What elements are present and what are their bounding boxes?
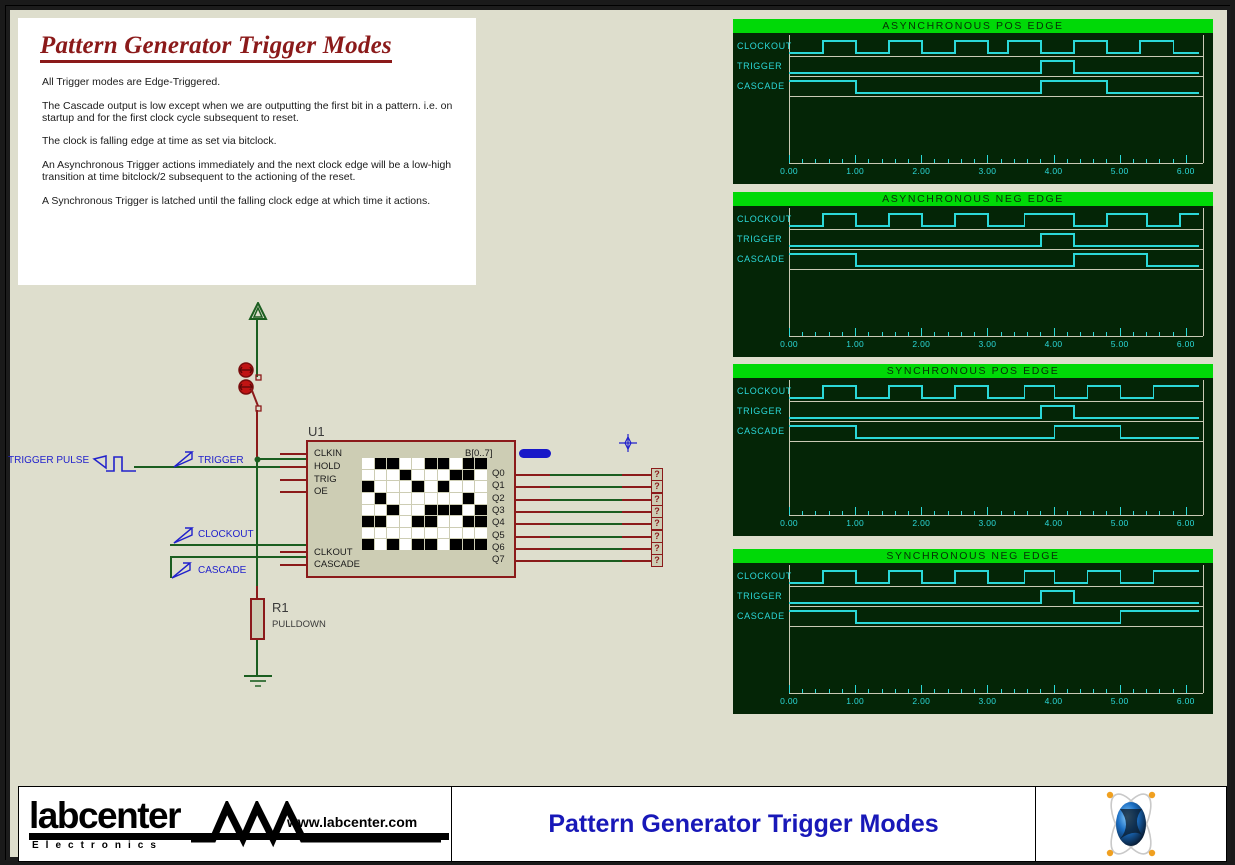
resistor-value: PULLDOWN	[272, 619, 326, 630]
axis-tick-minor	[1001, 159, 1002, 163]
pattern-cell[interactable]	[425, 516, 437, 527]
trace-edge	[1120, 570, 1122, 584]
trace-edge	[1146, 213, 1148, 227]
wire-q4-probe-stub	[622, 523, 652, 525]
pattern-cell[interactable]	[475, 539, 487, 550]
axis-tick-minor	[1146, 332, 1147, 336]
trace-segment	[1106, 52, 1139, 54]
waveform-plot-area: CLOCKOUTTRIGGERCASCADE0.001.002.003.004.…	[733, 563, 1213, 714]
pattern-cell[interactable]	[375, 470, 387, 481]
axis-tick-minor	[1027, 689, 1028, 693]
channel-separator	[789, 441, 1203, 442]
pattern-cell[interactable]	[475, 516, 487, 527]
trace-edge	[1106, 80, 1108, 94]
pattern-cell[interactable]	[362, 528, 374, 539]
trace-edge	[921, 385, 923, 399]
pattern-cell[interactable]	[475, 505, 487, 516]
trace-segment	[789, 602, 1040, 604]
axis-tick-minor	[1133, 159, 1134, 163]
trace-segment	[1146, 225, 1179, 227]
trace-segment	[1120, 610, 1199, 612]
probe-q3[interactable]: ?	[651, 505, 663, 518]
pattern-cell[interactable]	[463, 481, 475, 492]
axis-tick-minor	[802, 332, 803, 336]
axis-tick-label: 2.00	[912, 166, 930, 176]
pattern-cell[interactable]	[400, 528, 412, 539]
trace-segment	[789, 52, 822, 54]
axis-tick-minor	[1093, 332, 1094, 336]
pattern-cell[interactable]	[463, 539, 475, 550]
trace-segment	[1073, 253, 1146, 255]
trace-segment	[1179, 213, 1199, 215]
pattern-cell[interactable]	[400, 458, 412, 469]
axis-tick-minor	[908, 511, 909, 515]
pattern-cell[interactable]	[463, 470, 475, 481]
trace-edge	[1073, 233, 1075, 247]
pattern-matrix	[362, 458, 487, 550]
axis-tick-label: 4.00	[1045, 518, 1063, 528]
axis-tick-major	[855, 685, 856, 693]
wire-q2-stub	[516, 499, 550, 501]
axis-tick-label: 5.00	[1111, 166, 1129, 176]
pattern-cell[interactable]	[362, 539, 374, 550]
trace-segment	[822, 385, 855, 387]
pattern-cell[interactable]	[412, 458, 424, 469]
pattern-cell[interactable]	[438, 528, 450, 539]
axis-tick-label: 3.00	[979, 518, 997, 528]
pattern-cell[interactable]	[425, 493, 437, 504]
channel-separator	[789, 606, 1203, 607]
switch-symbol[interactable]	[248, 368, 268, 416]
channel-separator	[789, 56, 1203, 57]
trace-segment	[1087, 570, 1120, 572]
axis-tick-minor	[1173, 332, 1174, 336]
pattern-cell[interactable]	[475, 493, 487, 504]
waveform-panel[interactable]: ASYNCHRONOUS POS EDGECLOCKOUTTRIGGERCASC…	[733, 19, 1213, 184]
brand-name: labcenter	[29, 795, 180, 837]
pattern-cell[interactable]	[412, 505, 424, 516]
pattern-cell[interactable]	[362, 493, 374, 504]
probe-q5[interactable]: ?	[651, 530, 663, 543]
bus-connector[interactable]	[519, 449, 551, 458]
axis-tick-minor	[895, 689, 896, 693]
axis-tick-major	[1054, 685, 1055, 693]
channel-label-trigger: TRIGGER	[737, 234, 782, 244]
trace-edge	[1073, 405, 1075, 419]
axis-tick-major	[987, 685, 988, 693]
axis-tick-minor	[1106, 689, 1107, 693]
trace-segment	[855, 52, 888, 54]
wire-q0-probe-stub	[622, 474, 652, 476]
note-paragraph: An Asynchronous Trigger actions immediat…	[42, 160, 454, 184]
pattern-cell[interactable]	[412, 493, 424, 504]
axis-tick-minor	[1146, 689, 1147, 693]
axis-tick-label: 0.00	[780, 518, 798, 528]
axis-tick-minor	[1014, 332, 1015, 336]
axis-tick-label: 0.00	[780, 166, 798, 176]
axis-tick-minor	[1080, 689, 1081, 693]
pattern-cell[interactable]	[438, 505, 450, 516]
trace-edge	[1153, 570, 1155, 584]
trace-segment	[954, 570, 987, 572]
wire-q1-stub	[516, 486, 550, 488]
trace-edge	[987, 570, 989, 584]
axis-tick-minor	[1014, 689, 1015, 693]
logo-underline	[29, 833, 449, 842]
net-label-clockout: CLOCKOUT	[198, 529, 254, 540]
pattern-cell[interactable]	[475, 481, 487, 492]
axis-tick-minor	[1146, 159, 1147, 163]
axis-tick-major	[1120, 328, 1121, 336]
trace-edge	[1040, 590, 1042, 604]
trace-segment	[1106, 213, 1146, 215]
pattern-cell[interactable]	[450, 493, 462, 504]
axis-tick-minor	[974, 159, 975, 163]
pattern-cell[interactable]	[412, 539, 424, 550]
trace-edge	[888, 213, 890, 227]
axis-tick-label: 4.00	[1045, 339, 1063, 349]
trace-segment	[855, 622, 1120, 624]
pattern-cell[interactable]	[438, 481, 450, 492]
axis-tick-label: 3.00	[979, 339, 997, 349]
title-block: labcenter Electronics www.labcenter.com …	[18, 786, 1227, 862]
probe-q7[interactable]: ?	[651, 554, 663, 567]
pattern-cell[interactable]	[387, 516, 399, 527]
plot-right-edge	[1203, 380, 1204, 515]
axis-tick-minor	[1093, 511, 1094, 515]
trace-edge	[1087, 570, 1089, 584]
trace-segment	[987, 397, 1023, 399]
axis-tick-minor	[1133, 332, 1134, 336]
trace-edge	[1153, 385, 1155, 399]
waveform-plot-area: CLOCKOUTTRIGGERCASCADE0.001.002.003.004.…	[733, 378, 1213, 536]
plot-left-axis	[789, 565, 790, 693]
trace-segment	[1007, 40, 1040, 42]
pattern-cell[interactable]	[438, 470, 450, 481]
axis-tick-minor	[1146, 511, 1147, 515]
pattern-cell[interactable]	[425, 539, 437, 550]
trace-edge	[888, 385, 890, 399]
pattern-cell[interactable]	[412, 481, 424, 492]
pattern-cell[interactable]	[438, 516, 450, 527]
wire-q6-probe-stub	[622, 548, 652, 550]
trace-segment	[987, 52, 1007, 54]
axis-tick-major	[1186, 328, 1187, 336]
pattern-cell[interactable]	[362, 505, 374, 516]
axis-tick-minor	[1014, 159, 1015, 163]
axis-tick-label: 5.00	[1111, 696, 1129, 706]
axis-tick-major	[789, 155, 790, 163]
trace-segment	[888, 570, 921, 572]
pattern-cell[interactable]	[425, 528, 437, 539]
pattern-cell[interactable]	[475, 458, 487, 469]
trace-segment	[789, 417, 1040, 419]
pattern-cell[interactable]	[425, 505, 437, 516]
pattern-cell[interactable]	[375, 528, 387, 539]
axis-tick-minor	[868, 159, 869, 163]
axis-tick-label: 4.00	[1045, 166, 1063, 176]
trace-segment	[1054, 397, 1087, 399]
pattern-cell[interactable]	[475, 528, 487, 539]
trace-segment	[1139, 40, 1172, 42]
pattern-cell[interactable]	[463, 505, 475, 516]
trace-segment	[789, 72, 1040, 74]
trace-segment	[1153, 570, 1199, 572]
axis-tick-minor	[1159, 511, 1160, 515]
pattern-cell[interactable]	[400, 493, 412, 504]
waveform-title: ASYNCHRONOUS NEG EDGE	[733, 192, 1213, 206]
trace-edge	[1179, 213, 1181, 227]
plot-left-axis	[789, 35, 790, 163]
pattern-cell[interactable]	[425, 458, 437, 469]
trace-segment	[1073, 40, 1106, 42]
trace-segment	[1146, 265, 1199, 267]
pin-label-trig: TRIG	[314, 474, 337, 485]
pattern-cell[interactable]	[450, 528, 462, 539]
pin-label-q4: Q4	[492, 517, 505, 528]
wire-q3-probe-stub	[622, 511, 652, 513]
waveform-panel[interactable]: SYNCHRONOUS POS EDGECLOCKOUTTRIGGERCASCA…	[733, 364, 1213, 536]
trace-segment	[1073, 245, 1199, 247]
trace-edge	[1024, 385, 1026, 399]
trace-segment	[888, 40, 921, 42]
pattern-cell[interactable]	[375, 539, 387, 550]
pattern-cell[interactable]	[438, 539, 450, 550]
axis-tick-minor	[1173, 511, 1174, 515]
pattern-cell[interactable]	[362, 481, 374, 492]
axis-tick-minor	[948, 511, 949, 515]
pattern-cell[interactable]	[463, 516, 475, 527]
channel-label-clockout: CLOCKOUT	[737, 571, 792, 581]
pattern-cell[interactable]	[400, 516, 412, 527]
trace-segment	[1153, 385, 1199, 387]
trace-segment	[1024, 570, 1054, 572]
wire-q5-stub	[516, 536, 550, 538]
pattern-cell[interactable]	[400, 481, 412, 492]
axis-tick-minor	[868, 332, 869, 336]
pattern-cell[interactable]	[387, 458, 399, 469]
axis-tick-major	[1120, 507, 1121, 515]
waveform-panel[interactable]: SYNCHRONOUS NEG EDGECLOCKOUTTRIGGERCASCA…	[733, 549, 1213, 714]
pattern-cell[interactable]	[375, 516, 387, 527]
trace-segment	[789, 80, 855, 82]
channel-label-clockout: CLOCKOUT	[737, 41, 792, 51]
sheet-border: Pattern Generator Trigger Modes All Trig…	[6, 6, 1231, 861]
probe-q6[interactable]: ?	[651, 542, 663, 555]
pattern-cell[interactable]	[387, 481, 399, 492]
trace-edge	[822, 385, 824, 399]
channel-separator	[789, 76, 1203, 77]
pin-label-clkout: CLKOUT	[314, 547, 353, 558]
wire-q7-probe-stub	[622, 560, 652, 562]
trace-segment	[789, 582, 822, 584]
wire-cascade	[170, 556, 306, 558]
trace-edge	[1040, 80, 1042, 94]
pattern-cell[interactable]	[450, 481, 462, 492]
axis-tick-minor	[802, 511, 803, 515]
axis-tick-minor	[868, 511, 869, 515]
pattern-cell[interactable]	[387, 470, 399, 481]
channel-separator	[789, 96, 1203, 97]
axis-tick-minor	[895, 511, 896, 515]
pattern-cell[interactable]	[450, 470, 462, 481]
axis-tick-major	[1120, 685, 1121, 693]
axis-tick-minor	[974, 689, 975, 693]
axis-tick-minor	[895, 332, 896, 336]
axis-tick-minor	[802, 159, 803, 163]
pin-label-q6: Q6	[492, 542, 505, 553]
pattern-cell[interactable]	[475, 470, 487, 481]
axis-tick-minor	[1027, 511, 1028, 515]
trace-edge	[1054, 570, 1056, 584]
trace-segment	[1073, 602, 1199, 604]
trace-edge	[855, 40, 857, 54]
pattern-cell[interactable]	[362, 470, 374, 481]
axis-tick-major	[789, 507, 790, 515]
wire-r1-bottom	[256, 640, 258, 675]
resistor-waveform-logo-icon	[191, 801, 441, 853]
pattern-cell[interactable]	[450, 516, 462, 527]
trace-segment	[1120, 397, 1153, 399]
trace-segment	[855, 265, 1073, 267]
waveform-panel[interactable]: ASYNCHRONOUS NEG EDGECLOCKOUTTRIGGERCASC…	[733, 192, 1213, 357]
trace-segment	[1040, 60, 1073, 62]
pattern-cell[interactable]	[400, 470, 412, 481]
axis-tick-minor	[908, 689, 909, 693]
axis-tick-label: 3.00	[979, 166, 997, 176]
pattern-cell[interactable]	[375, 505, 387, 516]
pattern-cell[interactable]	[450, 458, 462, 469]
wire-q3	[550, 511, 622, 513]
channel-label-cascade: CASCADE	[737, 254, 785, 264]
axis-tick-minor	[829, 689, 830, 693]
channel-label-trigger: TRIGGER	[737, 591, 782, 601]
axis-tick-label: 6.00	[1177, 339, 1195, 349]
pattern-cell[interactable]	[463, 458, 475, 469]
logo-cell	[1036, 787, 1226, 861]
pattern-cell[interactable]	[463, 528, 475, 539]
trace-segment	[1106, 92, 1199, 94]
pattern-cell[interactable]	[375, 493, 387, 504]
trace-edge	[855, 213, 857, 227]
trace-edge	[1007, 40, 1009, 54]
pattern-cell[interactable]	[387, 505, 399, 516]
trace-edge	[1073, 60, 1075, 74]
trace-segment	[987, 225, 1023, 227]
junction-dot	[253, 455, 262, 464]
pattern-cell[interactable]	[412, 470, 424, 481]
axis-tick-major	[1054, 328, 1055, 336]
axis-tick-minor	[1106, 159, 1107, 163]
wire-q1	[550, 486, 622, 488]
wire-trigger-vert	[256, 458, 258, 598]
axis-tick-minor	[842, 332, 843, 336]
channel-separator	[789, 249, 1203, 250]
probe-q2[interactable]: ?	[651, 493, 663, 506]
note-paragraph: The Cascade output is low except when we…	[42, 101, 454, 125]
trace-segment	[1173, 52, 1199, 54]
trace-edge	[1120, 385, 1122, 399]
pattern-cell[interactable]	[425, 470, 437, 481]
plot-right-edge	[1203, 35, 1204, 163]
pattern-cell[interactable]	[438, 493, 450, 504]
pattern-cell[interactable]	[450, 539, 462, 550]
pulse-generator-icon	[92, 453, 142, 475]
plot-bottom-axis	[789, 693, 1203, 694]
axis-tick-label: 6.00	[1177, 518, 1195, 528]
pattern-cell[interactable]	[387, 528, 399, 539]
net-label-trigger: TRIGGER	[198, 455, 244, 466]
probe-q4[interactable]: ?	[651, 517, 663, 530]
trace-segment	[1054, 425, 1120, 427]
trace-segment	[1073, 225, 1106, 227]
pattern-cell[interactable]	[375, 458, 387, 469]
pattern-cell[interactable]	[400, 505, 412, 516]
axis-tick-minor	[829, 332, 830, 336]
pattern-cell[interactable]	[362, 458, 374, 469]
net-flag-cascade-icon	[170, 561, 194, 581]
axis-tick-minor	[948, 332, 949, 336]
axis-tick-minor	[802, 689, 803, 693]
axis-tick-major	[987, 155, 988, 163]
trace-edge	[921, 570, 923, 584]
pattern-cell[interactable]	[425, 481, 437, 492]
axis-tick-minor	[1080, 511, 1081, 515]
trace-edge	[1073, 40, 1075, 54]
axis-tick-minor	[1173, 159, 1174, 163]
pattern-cell[interactable]	[387, 493, 399, 504]
trace-edge	[855, 385, 857, 399]
pattern-cell[interactable]	[450, 505, 462, 516]
probe-q1[interactable]: ?	[651, 480, 663, 493]
axis-tick-minor	[1001, 689, 1002, 693]
trace-segment	[1087, 385, 1120, 387]
axis-tick-minor	[882, 159, 883, 163]
trace-segment	[789, 425, 855, 427]
axis-tick-major	[987, 328, 988, 336]
waveform-title: ASYNCHRONOUS POS EDGE	[733, 19, 1213, 33]
plot-right-edge	[1203, 208, 1204, 336]
pattern-cell[interactable]	[438, 458, 450, 469]
notes-body: All Trigger modes are Edge-Triggered. Th…	[18, 63, 476, 208]
axis-tick-label: 1.00	[846, 518, 864, 528]
wire-q4	[550, 523, 622, 525]
axis-tick-major	[789, 685, 790, 693]
trace-segment	[789, 245, 1040, 247]
pattern-cell[interactable]	[400, 539, 412, 550]
axis-tick-minor	[1067, 689, 1068, 693]
pin-stub-clkout	[280, 551, 308, 553]
trace-segment	[888, 385, 921, 387]
pattern-cell[interactable]	[463, 493, 475, 504]
pattern-cell[interactable]	[375, 481, 387, 492]
trace-edge	[954, 213, 956, 227]
trace-edge	[1073, 590, 1075, 604]
wire-cascade-vert	[170, 556, 172, 578]
channel-separator	[789, 626, 1203, 627]
probe-q0[interactable]: ?	[651, 468, 663, 481]
pattern-cell[interactable]	[412, 516, 424, 527]
axis-tick-minor	[1080, 332, 1081, 336]
axis-tick-minor	[882, 332, 883, 336]
trace-segment	[1120, 437, 1199, 439]
pattern-cell[interactable]	[412, 528, 424, 539]
pattern-cell[interactable]	[387, 539, 399, 550]
trace-segment	[1054, 582, 1087, 584]
pattern-cell[interactable]	[362, 516, 374, 527]
trace-edge	[1106, 213, 1108, 227]
channel-separator	[789, 421, 1203, 422]
